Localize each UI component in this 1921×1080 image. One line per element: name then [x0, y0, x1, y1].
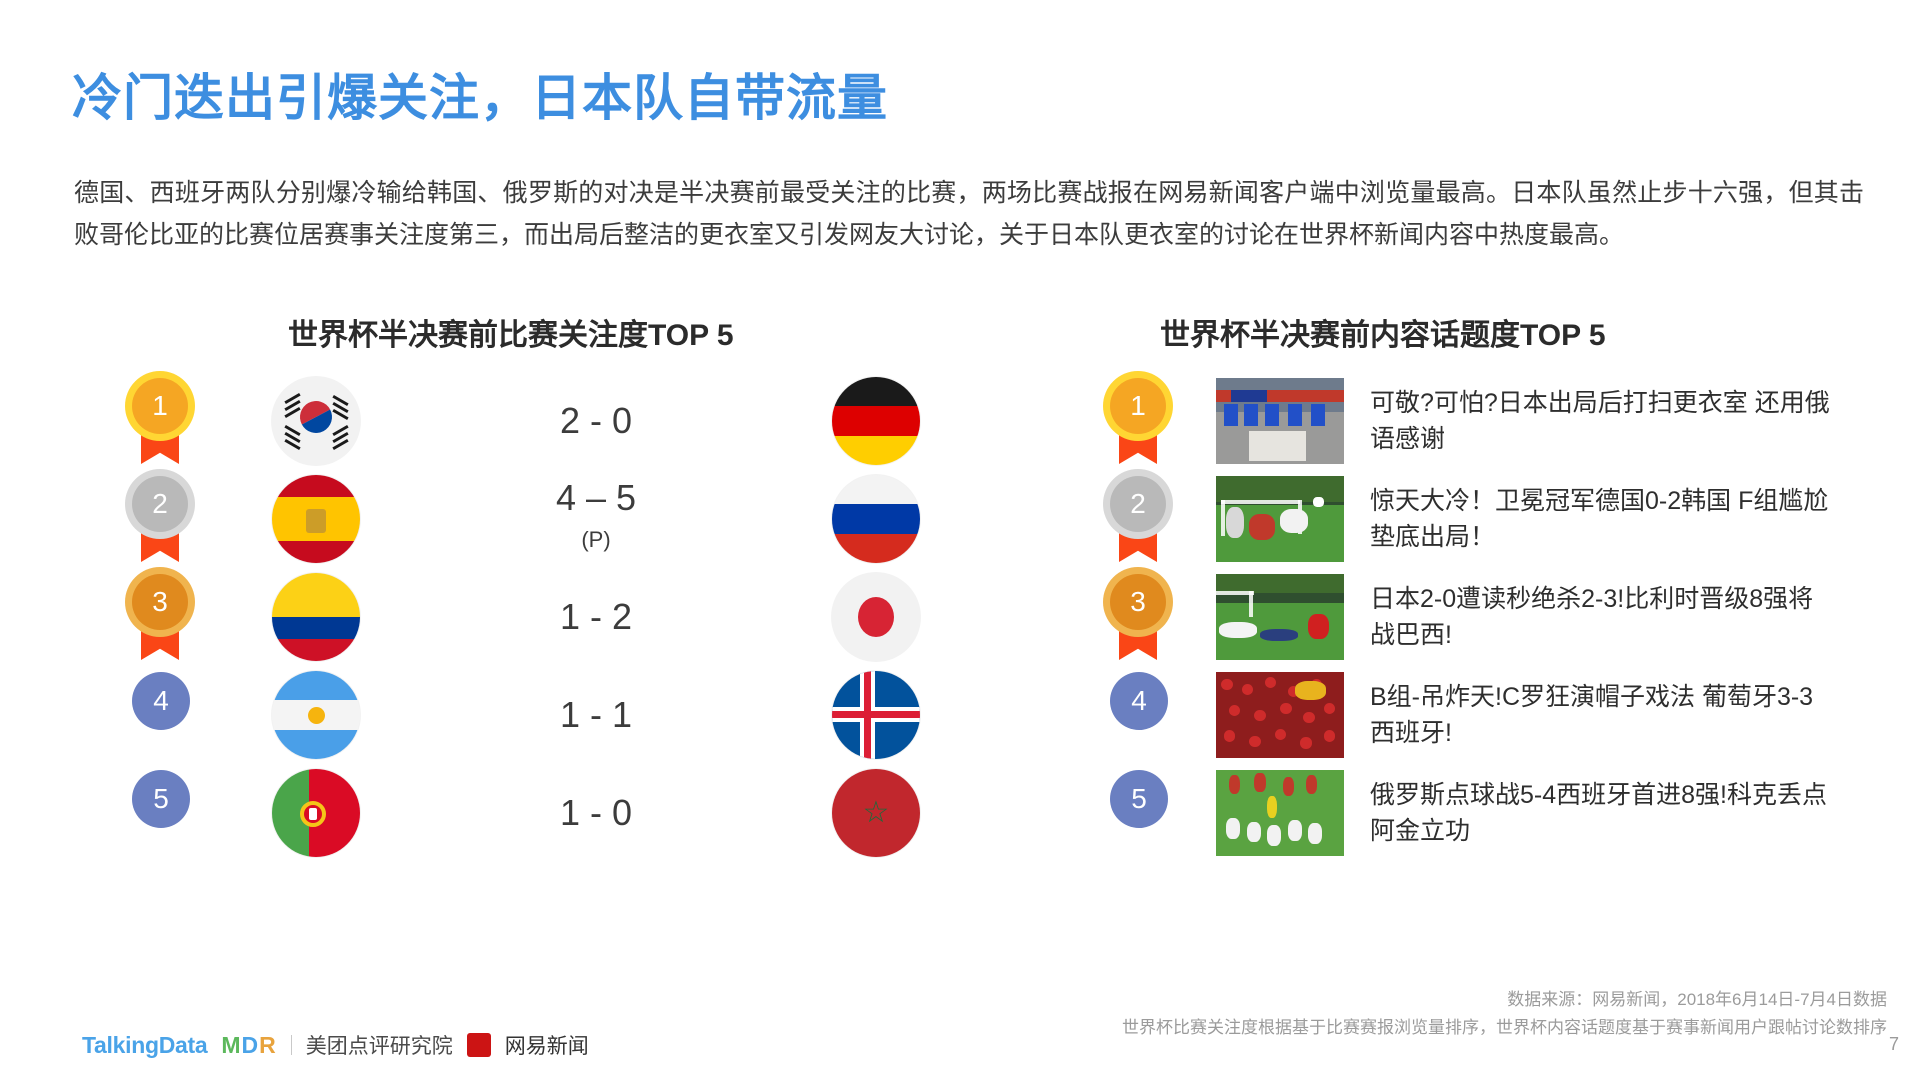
logo-divider [291, 1035, 292, 1055]
match-score: 4 – 5 (P) [360, 478, 832, 560]
rank-number: 5 [132, 770, 190, 828]
rank-badge-1: 1 [120, 378, 196, 464]
news-thumbnail-portugal-fans[interactable] [1216, 672, 1344, 758]
flag-russia-icon [832, 475, 920, 563]
news-list: 1 可敬?可怕?日本出局后打扫更衣室 还用俄语感谢 2 [1098, 372, 1888, 862]
slide: 冷门迭出引爆关注，日本队自带流量 德国、西班牙两队分别爆冷输给韩国、俄罗斯的对决… [0, 0, 1921, 1080]
flag-portugal-icon [272, 769, 360, 857]
rank-number: 2 [132, 476, 188, 532]
news-headline[interactable]: 惊天大冷！卫冕冠军德国0-2韩国 F组尴尬垫底出局！ [1370, 483, 1830, 555]
source-line-1: 数据来源：网易新闻，2018年6月14日-7月4日数据 [1122, 986, 1887, 1014]
rank-badge-4: 4 [120, 672, 196, 758]
section-heading-matches: 世界杯半决赛前比赛关注度TOP 5 [288, 310, 734, 354]
rank-badge-5: 5 [1098, 770, 1174, 856]
table-row: 5 1 - 0 ☆ [120, 764, 920, 862]
news-headline[interactable]: B组-吊炸天!C罗狂演帽子戏法 葡萄牙3-3西班牙! [1370, 679, 1830, 751]
rank-badge-1: 1 [1098, 378, 1174, 464]
rank-number: 3 [132, 574, 188, 630]
netease-icon [467, 1033, 491, 1057]
page-number: 7 [1889, 1034, 1899, 1055]
rank-number: 1 [132, 378, 188, 434]
section-heading-news: 世界杯半决赛前内容话题度TOP 5 [1160, 310, 1606, 354]
rank-number: 2 [1110, 476, 1166, 532]
flag-morocco-icon: ☆ [832, 769, 920, 857]
news-thumbnail-locker-room[interactable] [1216, 378, 1344, 464]
rank-badge-3: 3 [120, 574, 196, 660]
rank-badge-2: 2 [1098, 476, 1174, 562]
rank-number: 5 [1110, 770, 1168, 828]
news-headline[interactable]: 日本2-0遭读秒绝杀2-3!比利时晋级8强将战巴西! [1370, 581, 1830, 653]
lede-paragraph: 德国、西班牙两队分别爆冷输给韩国、俄罗斯的对决是半决赛前最受关注的比赛，两场比赛… [74, 172, 1864, 256]
flag-korea-icon [272, 377, 360, 465]
table-row: 4 1 - 1 [120, 666, 920, 764]
list-item[interactable]: 3 日本2-0遭读秒绝杀2-3!比利时晋级8强将战巴西! [1098, 568, 1888, 666]
list-item[interactable]: 5 俄罗斯点球战5-4西班牙首进8强!科克丢点阿金立功 [1098, 764, 1888, 862]
flag-japan-icon [832, 573, 920, 661]
news-headline[interactable]: 俄罗斯点球战5-4西班牙首进8强!科克丢点阿金立功 [1370, 777, 1830, 849]
match-score: 2 - 0 [360, 401, 832, 441]
rank-number: 4 [1110, 672, 1168, 730]
rank-number: 1 [1110, 378, 1166, 434]
mdr-logo: MDR [221, 1032, 276, 1059]
source-note: 数据来源：网易新闻，2018年6月14日-7月4日数据 世界杯比赛关注度根据基于… [1122, 986, 1887, 1042]
rank-badge-3: 3 [1098, 574, 1174, 660]
flag-colombia-icon [272, 573, 360, 661]
list-item[interactable]: 1 可敬?可怕?日本出局后打扫更衣室 还用俄语感谢 [1098, 372, 1888, 470]
logo-bar: TalkingData MDR 美团点评研究院 网易新闻 [82, 1030, 589, 1060]
rank-badge-2: 2 [120, 476, 196, 562]
table-row: 1 2 - 0 [120, 372, 920, 470]
flag-argentina-icon [272, 671, 360, 759]
talkingdata-logo: TalkingData [82, 1032, 207, 1059]
news-thumbnail-japan-belgium[interactable] [1216, 574, 1344, 660]
rank-number: 3 [1110, 574, 1166, 630]
news-thumbnail-russia-celebration[interactable] [1216, 770, 1344, 856]
news-thumbnail-germany-korea[interactable] [1216, 476, 1344, 562]
meituan-research-logo: 美团点评研究院 [306, 1030, 453, 1060]
page-title: 冷门迭出引爆关注，日本队自带流量 [72, 58, 888, 130]
news-headline[interactable]: 可敬?可怕?日本出局后打扫更衣室 还用俄语感谢 [1370, 385, 1830, 457]
flag-germany-icon [832, 377, 920, 465]
table-row: 2 4 – 5 (P) [120, 470, 920, 568]
flag-iceland-icon [832, 671, 920, 759]
rank-number: 4 [132, 672, 190, 730]
flag-spain-icon [272, 475, 360, 563]
rank-badge-5: 5 [120, 770, 196, 856]
match-score: 1 - 1 [360, 695, 832, 735]
match-score: 1 - 0 [360, 793, 832, 833]
netease-logo: 网易新闻 [505, 1030, 589, 1060]
list-item[interactable]: 2 惊天大冷！卫冕冠军德国0-2韩国 F组尴尬垫底出局！ [1098, 470, 1888, 568]
source-line-2: 世界杯比赛关注度根据基于比赛赛报浏览量排序，世界杯内容话题度基于赛事新闻用户跟帖… [1122, 1014, 1887, 1042]
rank-badge-4: 4 [1098, 672, 1174, 758]
penalty-note: (P) [360, 520, 832, 560]
table-row: 3 1 - 2 [120, 568, 920, 666]
match-list: 1 2 - 0 [120, 372, 920, 862]
list-item[interactable]: 4 B组-吊炸天!C罗狂演帽子戏法 葡萄牙3-3西班牙! [1098, 666, 1888, 764]
match-score: 1 - 2 [360, 597, 832, 637]
